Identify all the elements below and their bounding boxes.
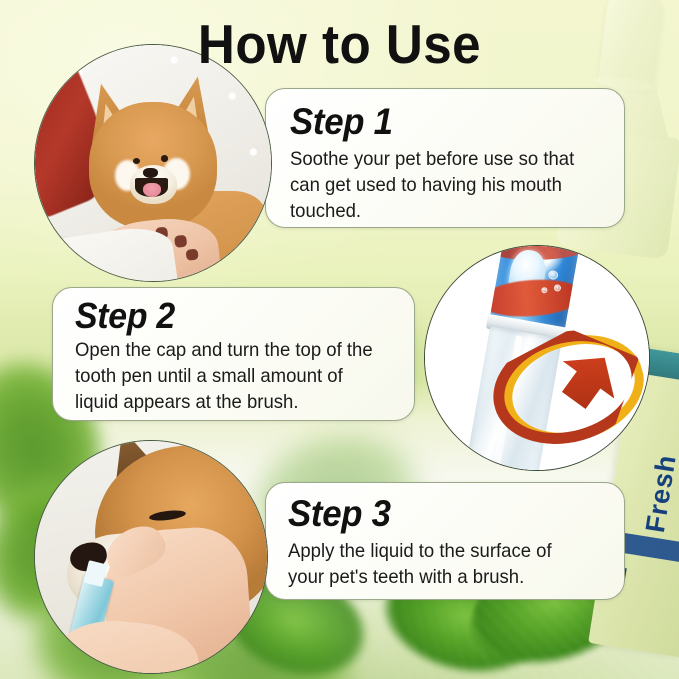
fingernail xyxy=(174,235,187,247)
step-1-photo xyxy=(34,44,272,282)
step-2-photo xyxy=(424,245,650,471)
step-3-card: Step 3 Apply the liquid to the surface o… xyxy=(265,482,625,600)
step-1-label: Step 1 xyxy=(290,103,585,141)
step-1-body: Soothe your pet before use so that can g… xyxy=(290,147,588,225)
package-label-bar xyxy=(617,532,679,562)
fingernail xyxy=(185,248,198,260)
step-3-photo xyxy=(34,440,268,674)
step-1-card-content: Step 1 Soothe your pet before use so tha… xyxy=(266,89,624,237)
step-2-body: Open the cap and turn the top of the too… xyxy=(75,338,380,416)
bubble-icon xyxy=(541,287,548,293)
step-3-body: Apply the liquid to the surface of your … xyxy=(288,539,590,591)
step-3-label: Step 3 xyxy=(288,495,587,533)
step-3-card-content: Step 3 Apply the liquid to the surface o… xyxy=(266,483,624,601)
dog-eye-left xyxy=(133,158,141,164)
bubble-icon xyxy=(548,270,559,281)
dog-nose xyxy=(143,168,158,178)
step-2-label: Step 2 xyxy=(75,298,377,335)
page-title: How to Use xyxy=(24,12,655,76)
step-1-card: Step 1 Soothe your pet before use so tha… xyxy=(265,88,625,228)
dog-head xyxy=(89,102,216,229)
step-2-card-content: Step 2 Open the cap and turn the top of … xyxy=(53,288,414,423)
rotate-arrow-band xyxy=(480,313,650,461)
how-to-use-infographic: Fresh U How to Use Step 1 xyxy=(0,0,679,679)
step-2-card: Step 2 Open the cap and turn the top of … xyxy=(52,287,415,421)
dog-eye-right xyxy=(161,155,169,161)
rotate-arrow-icon xyxy=(492,327,650,452)
pen-cap-red-stripe xyxy=(490,276,581,319)
dog-tongue xyxy=(143,183,161,197)
